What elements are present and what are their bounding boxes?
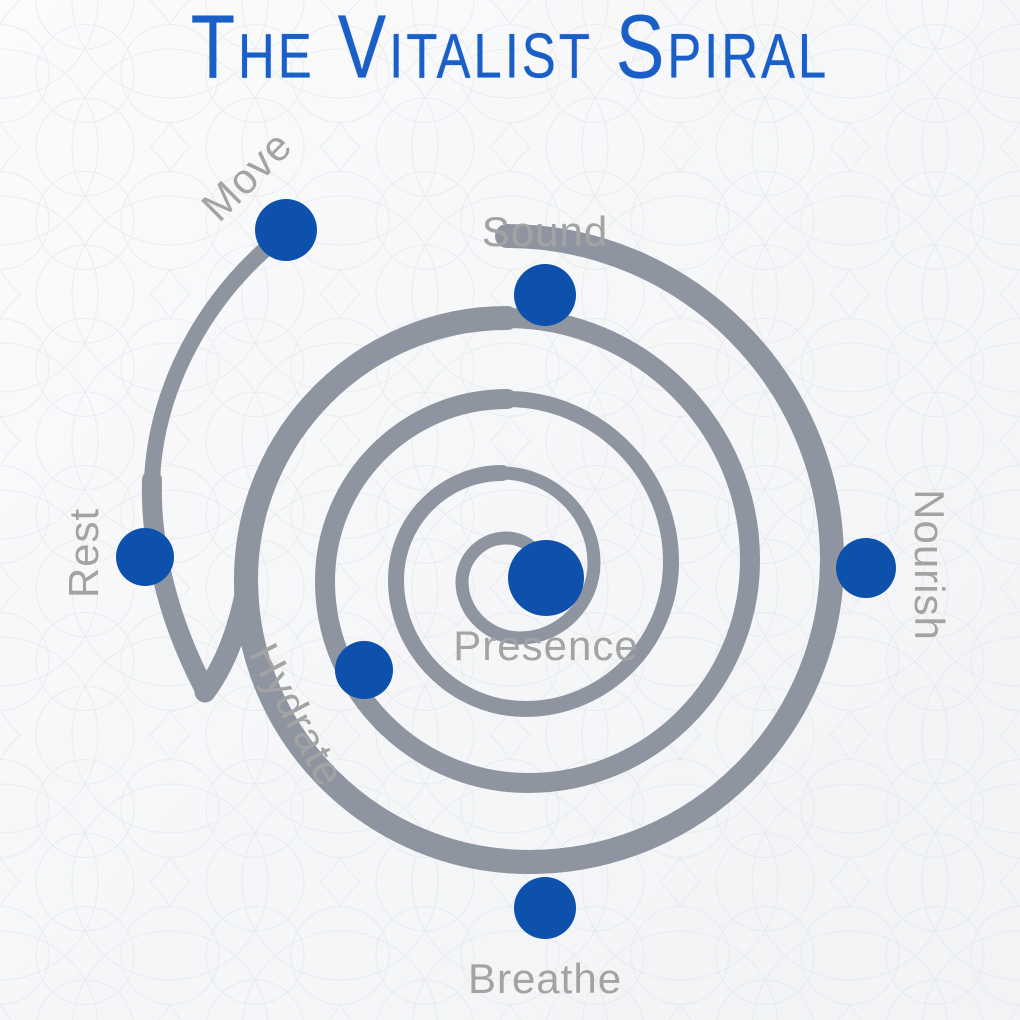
node-dot-move[interactable]	[255, 199, 317, 261]
node-label-sound: Sound	[482, 208, 608, 256]
node-label-presence: Presence	[453, 622, 638, 670]
node-dot-nourish[interactable]	[836, 538, 896, 598]
node-dot-presence[interactable]	[508, 540, 584, 616]
node-label-nourish: Nourish	[905, 489, 953, 641]
node-dot-hydrate[interactable]	[335, 641, 393, 699]
node-dot-rest[interactable]	[116, 528, 174, 586]
node-dot-sound[interactable]	[514, 264, 576, 326]
spiral-path	[0, 0, 1020, 1020]
node-label-breathe: Breathe	[468, 955, 622, 1003]
node-label-rest: Rest	[60, 508, 108, 598]
spiral-diagram-canvas: The Vitalist Spiral	[0, 0, 1020, 1020]
node-dot-breathe[interactable]	[514, 877, 576, 939]
